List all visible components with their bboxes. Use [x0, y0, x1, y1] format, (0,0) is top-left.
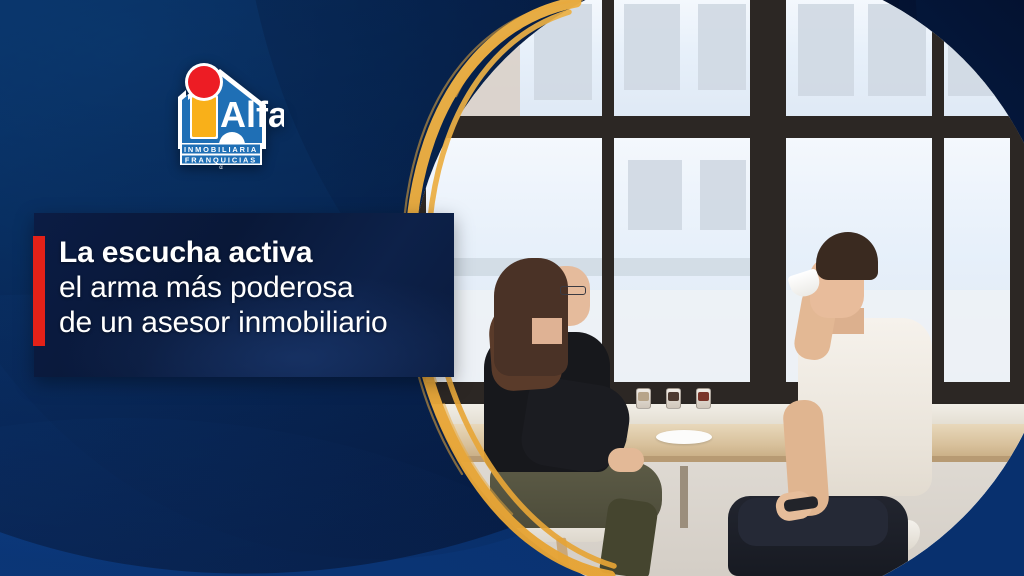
jar-2 — [666, 388, 681, 409]
logo-figure-body — [192, 97, 216, 137]
alfa-inmobiliaria-logo[interactable]: Alfa INMOBILIARIA FRANQUICIAS α — [156, 57, 284, 170]
jar-3 — [696, 388, 711, 409]
photo-counter-bracket — [680, 466, 688, 528]
plate — [656, 430, 712, 444]
circular-photo-mask — [410, 0, 1024, 576]
woman-hair — [494, 258, 568, 376]
promotional-banner: La escucha activa el arma más poderosa d… — [0, 0, 1024, 576]
red-accent-bar — [33, 236, 45, 346]
headline-block: La escucha activa el arma más poderosa d… — [59, 237, 459, 338]
woman-glasses — [560, 286, 586, 295]
woman-neck — [532, 318, 562, 344]
logo-wordmark: Alfa — [220, 94, 284, 135]
logo-alpha-mark: α — [219, 165, 223, 170]
woman-shin — [599, 497, 659, 576]
logo-figure-head — [188, 66, 220, 98]
office-photo — [410, 0, 1024, 576]
jar-1 — [636, 388, 651, 409]
woman-hands — [608, 448, 644, 472]
headline-line-2: el arma más poderosa — [59, 272, 459, 304]
logo-line-1: INMOBILIARIA — [184, 145, 258, 154]
headline-line-1: La escucha activa — [59, 237, 459, 269]
headline-line-3: de un asesor inmobiliario — [59, 307, 459, 339]
logo-line-2: FRANQUICIAS — [185, 156, 257, 165]
